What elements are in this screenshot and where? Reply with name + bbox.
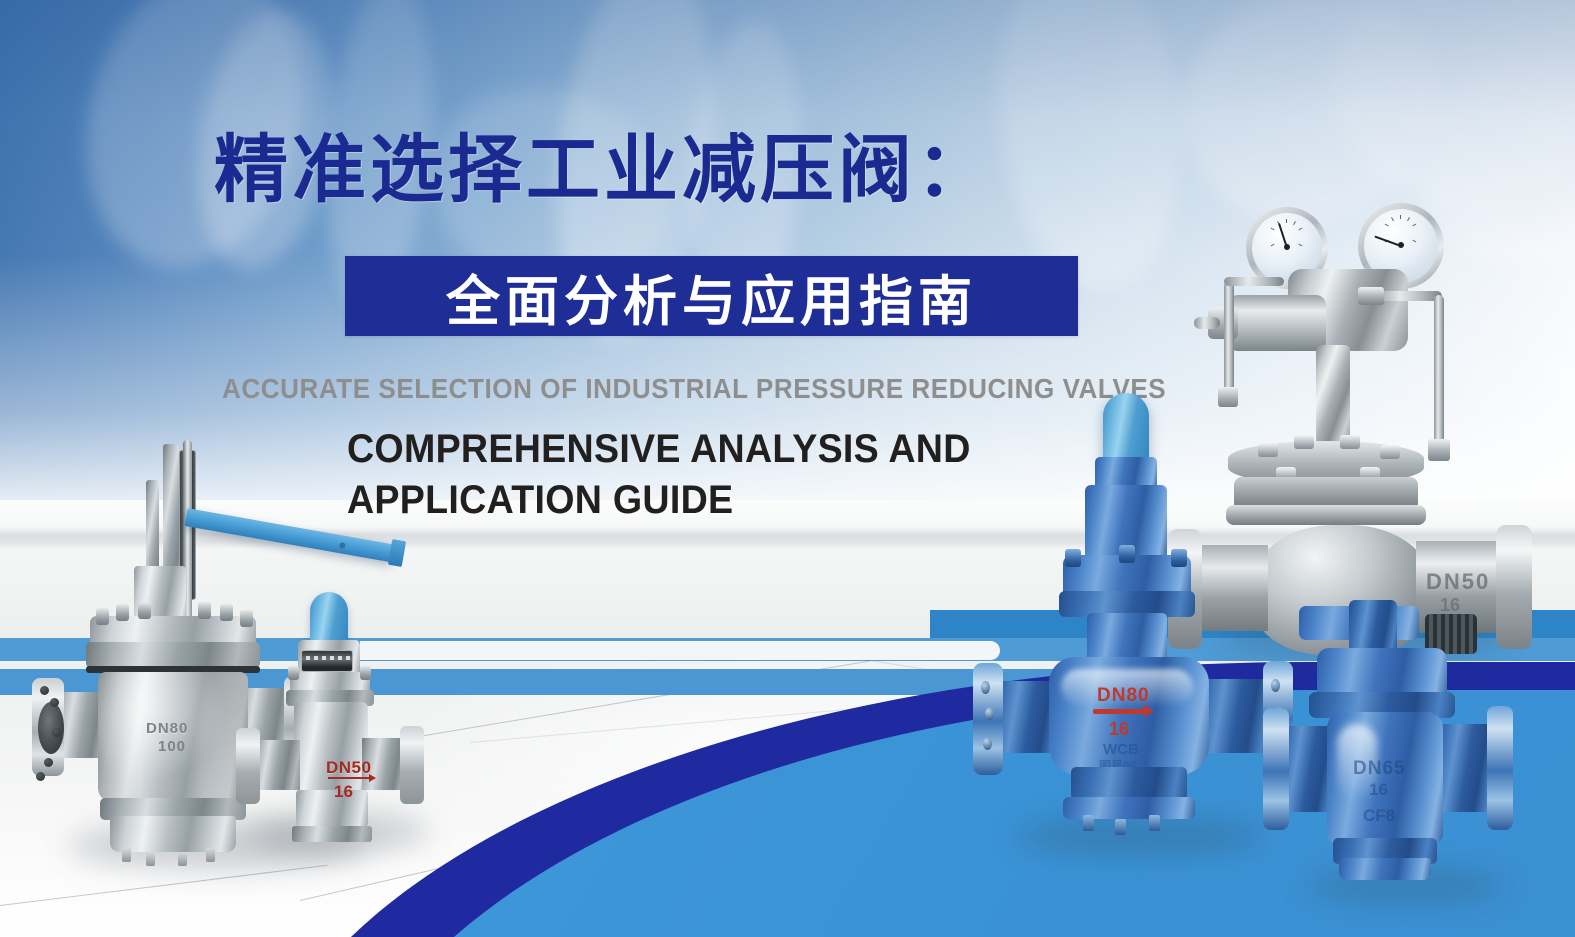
valve-marking-dn: DN50 bbox=[1426, 569, 1490, 595]
page-title-chinese: 精准选择工业减压阀： bbox=[214, 133, 994, 207]
base-bolt bbox=[122, 848, 131, 862]
valve-inlet-flange bbox=[236, 728, 260, 804]
tube-fitting-nut bbox=[1358, 287, 1384, 305]
base-bolt bbox=[206, 848, 215, 862]
flange-bolt bbox=[360, 666, 371, 680]
flange-bolt bbox=[138, 602, 151, 619]
regulator-adjust-screw bbox=[1194, 317, 1220, 329]
gauge-hub bbox=[1284, 244, 1290, 250]
valve-foot bbox=[292, 826, 372, 842]
valve-body bbox=[294, 702, 368, 794]
flange-bolt bbox=[288, 666, 299, 680]
valve-base bbox=[296, 790, 368, 830]
regulator-barrel bbox=[1228, 295, 1326, 351]
valve-marking-material: WCB bbox=[1103, 741, 1139, 758]
regulator-stem bbox=[1316, 345, 1350, 449]
gauge-tube-right bbox=[1434, 295, 1444, 443]
flange-bolt bbox=[198, 602, 211, 619]
base-bolt bbox=[178, 852, 187, 866]
valve-group-left: DN80 100 DN50 16 bbox=[38, 440, 458, 900]
flange-bolt bbox=[220, 604, 233, 621]
valve-outlet-flange bbox=[400, 726, 424, 804]
flange-bolt bbox=[116, 604, 129, 621]
valve-sight-window bbox=[301, 650, 353, 672]
valve-blue-dn65: DN65 16 CF8 bbox=[1265, 600, 1575, 930]
subtitle-banner-box: 全面分析与应用指南 bbox=[345, 256, 1078, 336]
valve-marking-dn: DN50 bbox=[326, 758, 371, 778]
flange-nut bbox=[1380, 445, 1400, 459]
valve-marking-material: CF8 bbox=[1363, 806, 1395, 826]
valve-bottom-cap bbox=[110, 816, 236, 852]
valve-marking-pn: 16 bbox=[1109, 719, 1129, 740]
base-bolt bbox=[1149, 815, 1160, 831]
valve-blue-dn80: DN80 16 WCB 图号06 bbox=[975, 385, 1305, 855]
valve-marking-dn: DN65 bbox=[1353, 758, 1406, 780]
flange-bolt bbox=[1119, 545, 1135, 563]
valve-ground-shadow bbox=[1015, 815, 1265, 857]
flange-bolt bbox=[1065, 549, 1081, 567]
gauge-hub bbox=[1398, 242, 1404, 248]
base-bolt bbox=[146, 852, 155, 866]
valve-marking-pn: 100 bbox=[158, 738, 186, 755]
valve-adjust-cap bbox=[1103, 393, 1149, 465]
flange-bolt bbox=[240, 610, 253, 627]
valve-base-flange bbox=[1339, 858, 1431, 880]
valve-lever-handle bbox=[184, 508, 394, 562]
valve-bonnet-flange-lower bbox=[86, 642, 260, 668]
valve-bore-opening bbox=[38, 702, 64, 754]
flange-bolt bbox=[1171, 549, 1187, 567]
valve-outlet-flange bbox=[1487, 706, 1513, 830]
flange-bolt bbox=[96, 608, 109, 625]
valve-body-shading bbox=[98, 672, 248, 802]
flange-nut bbox=[1340, 435, 1360, 449]
valve-marking-pn: 16 bbox=[334, 782, 353, 802]
banner-root: 精准选择工业减压阀： 全面分析与应用指南 ACCURATE SELECTION … bbox=[0, 0, 1575, 937]
base-bolt bbox=[1115, 819, 1126, 835]
flow-arrow-icon bbox=[328, 777, 370, 779]
valve-inlet-flange bbox=[1263, 708, 1289, 830]
valve-lever-tip bbox=[388, 539, 406, 567]
gauge-tube-left bbox=[1224, 281, 1234, 391]
valve-marking-dn: DN80 bbox=[146, 720, 188, 737]
flow-arrow-icon bbox=[1093, 709, 1145, 714]
tube-fitting-nut bbox=[1428, 439, 1450, 461]
gauge-tube-left-bend bbox=[1224, 277, 1284, 286]
base-bolt bbox=[1083, 815, 1094, 831]
subtitle-chinese: 全面分析与应用指南 bbox=[446, 257, 977, 336]
valve-marking-pn: 16 bbox=[1369, 780, 1388, 800]
valve-marking-dn: DN80 bbox=[1097, 685, 1150, 707]
